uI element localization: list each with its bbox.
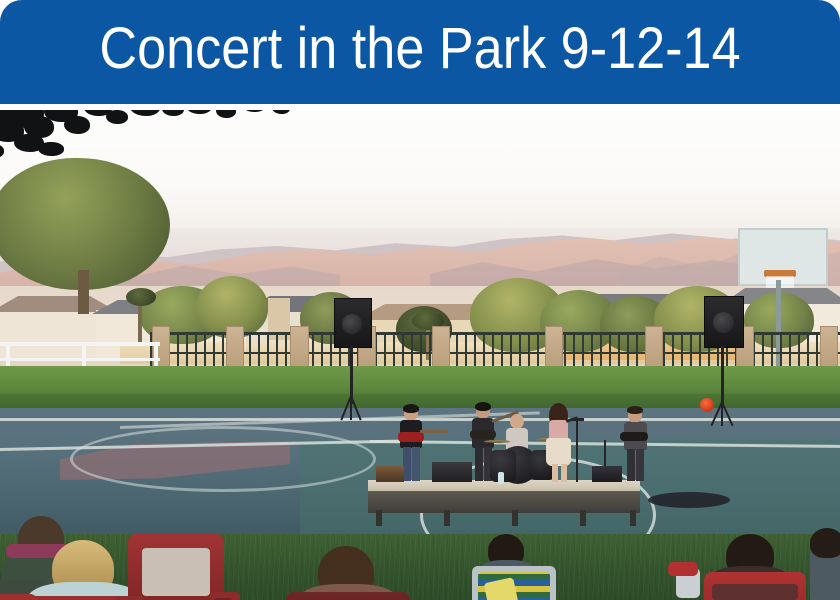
stage-front-panel (368, 491, 640, 513)
stage-monitor (432, 462, 472, 482)
page-title: Concert in the Park 9-12-14 (42, 17, 798, 81)
speaker-cone (713, 312, 734, 333)
palm-fronds (126, 288, 156, 306)
stage-light (700, 398, 714, 412)
guitar-amp (376, 466, 404, 482)
concert-photo (0, 110, 840, 600)
cymbal (484, 440, 510, 443)
microphone (572, 418, 584, 421)
stage-leg (512, 510, 518, 526)
water-bottle (498, 472, 504, 484)
mic-stand (576, 420, 578, 482)
tree-silhouette (0, 110, 310, 176)
title-banner: Concert in the Park 9-12-14 (0, 0, 840, 104)
cable-coil (648, 492, 730, 508)
stage-leg (444, 510, 450, 526)
camp-chair-edge-left (0, 594, 38, 600)
stage-monitor (592, 466, 622, 482)
stage-leg (630, 510, 636, 526)
stage-leg (580, 510, 586, 526)
stage-leg (376, 510, 382, 526)
court-arc-line (70, 426, 376, 492)
speaker-tripod-leg (721, 402, 723, 426)
tree-trunk (78, 270, 89, 314)
speaker-tripod-leg (350, 396, 352, 420)
audience-head-far-right (810, 528, 840, 558)
speaker-stand-pole (721, 346, 724, 408)
concert-flyer: Concert in the Park 9-12-14 (0, 0, 840, 600)
speaker-cone (342, 314, 362, 334)
